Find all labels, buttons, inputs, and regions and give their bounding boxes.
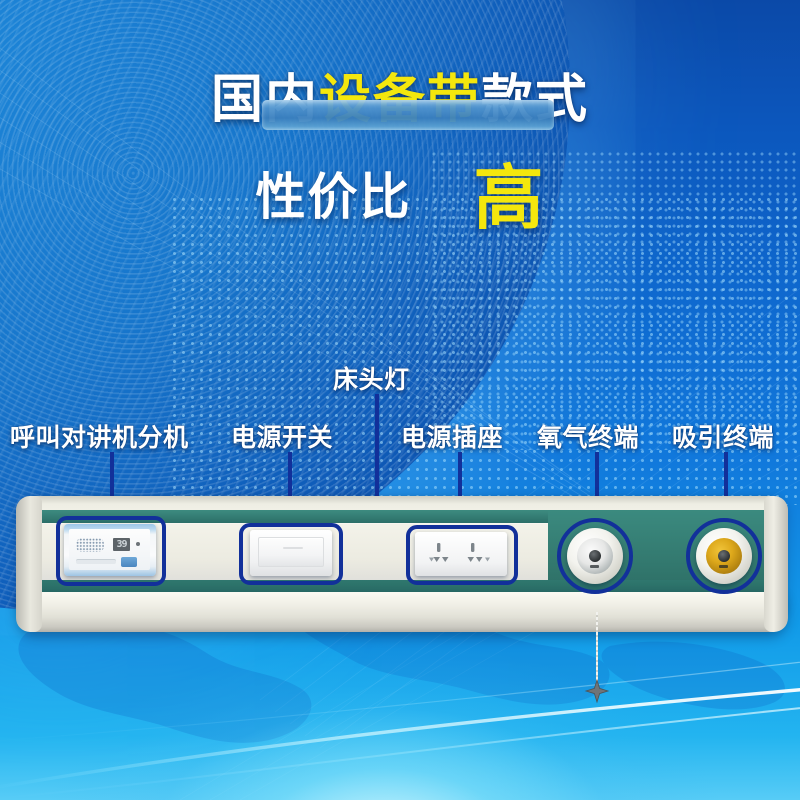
panel-lower-rail — [18, 592, 786, 632]
banner-canvas: 国内设备带款式 性价比 高 呼叫对讲机分机 电源开关 床头灯 电源插座 氧气终端… — [0, 0, 800, 800]
headline-block: 国内设备带款式 性价比 高 — [0, 72, 800, 243]
callout-box-intercom — [56, 516, 166, 586]
callout-label-bed-lamp: 床头灯 — [333, 360, 410, 396]
callout-circle-oxygen — [557, 518, 633, 594]
callout-box-power-socket — [406, 525, 518, 585]
callout-label-power-switch: 电源开关 — [231, 418, 333, 454]
panel-end-cap-left — [16, 496, 42, 632]
nurse-call-pull-cord[interactable] — [596, 612, 598, 686]
panel-end-cap-right — [764, 496, 788, 632]
bed-lamp-light-diffuser — [262, 100, 554, 130]
callout-label-intercom: 呼叫对讲机分机 — [10, 418, 189, 454]
callout-label-power-socket: 电源插座 — [401, 418, 503, 454]
headline-value-phrase: 性价比 — [256, 157, 412, 229]
callout-label-oxygen-terminal: 氧气终端 — [537, 418, 639, 454]
callout-label-suction-terminal: 吸引终端 — [672, 418, 774, 454]
pull-cord-star-pendant-icon[interactable] — [584, 678, 610, 704]
callout-box-power-switch — [239, 523, 343, 585]
callout-circle-suction — [686, 518, 762, 594]
headline-line-2: 性价比 高 — [0, 142, 800, 243]
headline-emphasis-gao: 高 — [474, 142, 545, 243]
